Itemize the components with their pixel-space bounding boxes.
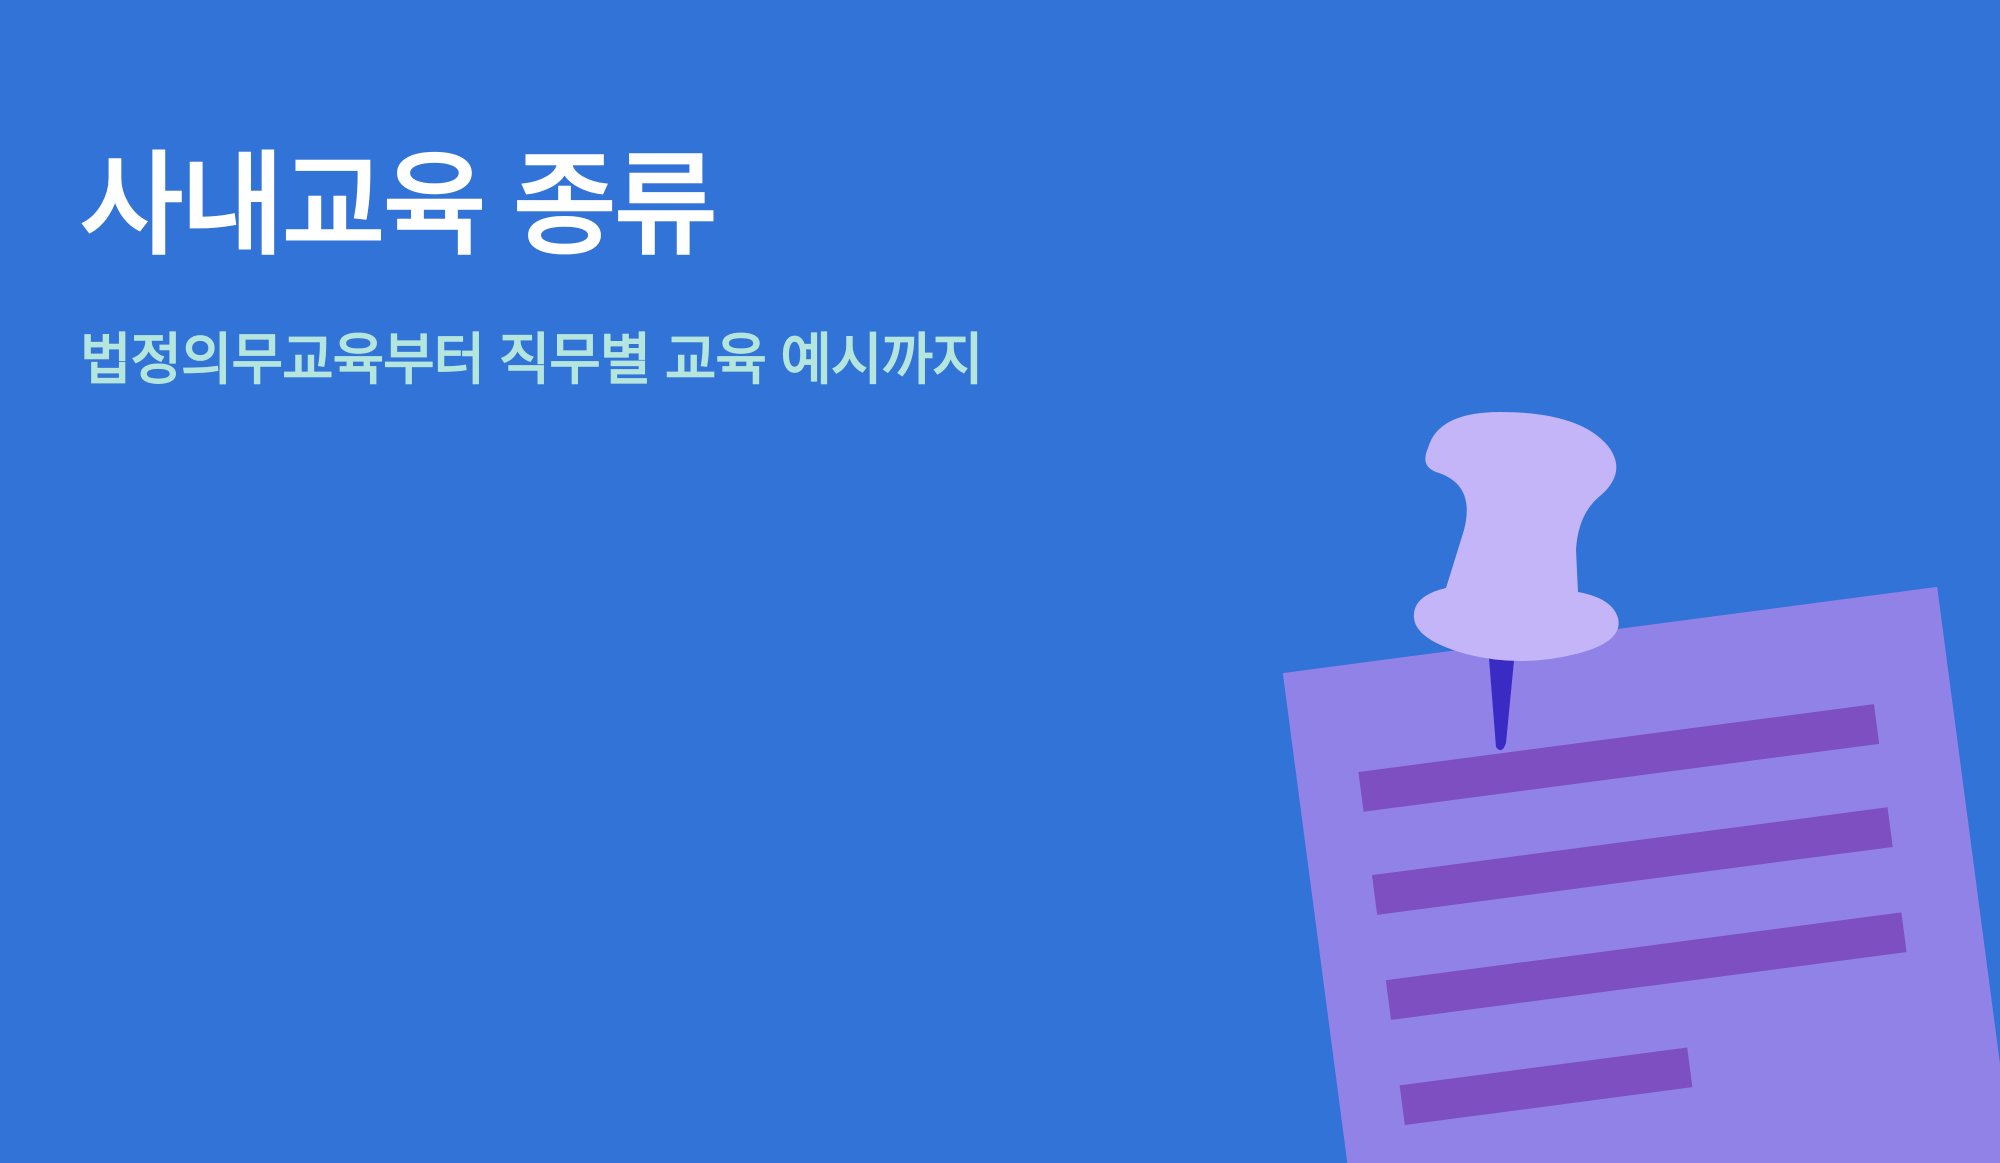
page-subtitle: 법정의무교육부터 직무별 교육 예시까지 xyxy=(80,272,1180,397)
pushpin-head-icon xyxy=(1380,410,1630,670)
note-paper xyxy=(1283,587,2000,1163)
pinned-note-illustration xyxy=(1150,380,2000,1163)
note-text-line xyxy=(1358,704,1879,812)
hero-text-block: 사내교육 종류 법정의무교육부터 직무별 교육 예시까지 xyxy=(80,140,1180,397)
note-text-line xyxy=(1400,1048,1693,1126)
slide-canvas: 사내교육 종류 법정의무교육부터 직무별 교육 예시까지 xyxy=(0,0,2000,1163)
page-title: 사내교육 종류 xyxy=(80,140,1180,272)
note-text-line xyxy=(1372,807,1893,915)
note-text-line xyxy=(1386,912,1907,1020)
